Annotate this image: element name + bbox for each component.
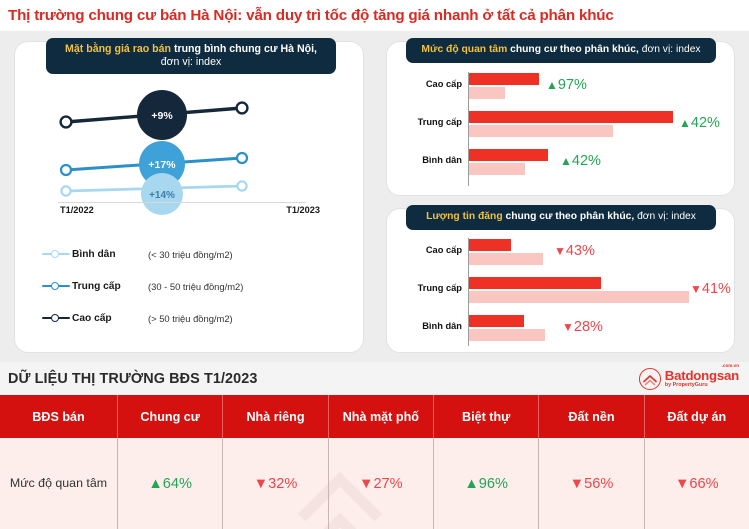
cell-value-biet-thu: ▲96%: [464, 476, 508, 492]
legend-item-binh-dan: Bình dân (< 30 triệu đồng/m2): [42, 238, 342, 270]
cell-number-dat-du-an: 66%: [689, 476, 718, 492]
bar-current-trung-cap-interest: [469, 111, 673, 123]
arrow-down-icon: ▼: [690, 282, 702, 296]
panel-interest-header: Mức độ quan tâm chung cư theo phân khúc,…: [406, 38, 716, 63]
bar-current-trung-cap-listings: [469, 277, 601, 289]
table-cell-biet-thu: ▲96%: [434, 438, 539, 529]
house-logo-icon: [639, 368, 661, 390]
listings-bar-chart: Cao cấp ▼43% Trung cấp ▼41% Bình dân ▼28…: [386, 234, 735, 350]
arrow-down-icon: ▼: [359, 476, 373, 492]
bar-group-cao-cap-interest: Cao cấp ▲97%: [386, 68, 735, 106]
bar-label-trung-cap-listings: Trung cấp: [386, 283, 462, 293]
cell-number-chung-cu: 64%: [163, 476, 192, 492]
arrow-down-icon: ▼: [554, 244, 566, 258]
slope-start-node-trung-cap: [61, 165, 71, 175]
cell-number-nha-mat-pho: 27%: [373, 476, 402, 492]
legend-range-trung-cap: (30 - 50 triệu đồng/m2): [148, 281, 243, 292]
legend-range-binh-dan: (< 30 triệu đồng/m2): [148, 249, 233, 260]
table-cell-nha-rieng: ▼32%: [223, 438, 328, 529]
cell-value-dat-du-an: ▼66%: [675, 476, 719, 492]
table-cell-chung-cu: ▲64%: [118, 438, 223, 529]
table-cell-dat-du-an: ▼66%: [645, 438, 749, 529]
bar-label-cao-cap-interest: Cao cấp: [386, 79, 462, 89]
delta-binh-dan-listings: ▼28%: [562, 319, 603, 335]
delta-value-trung-cap-interest: 42%: [691, 115, 720, 131]
price-header-gold: Mặt bằng giá rao bán: [65, 43, 174, 55]
price-header-unit: đơn vị: index: [161, 56, 222, 68]
footer-title: DỮ LIỆU THỊ TRƯỜNG BĐS T1/2023: [8, 371, 257, 387]
table-header-nha-rieng: Nhà riêng: [223, 395, 328, 438]
footer-bar: DỮ LIỆU THỊ TRƯỜNG BĐS T1/2023 .com.vn B…: [0, 362, 749, 395]
arrow-down-icon: ▼: [675, 476, 689, 492]
interest-bar-chart: Cao cấp ▲97% Trung cấp ▲42% Bình dân ▲42…: [386, 68, 735, 190]
price-header-white: trung bình chung cư Hà Nội,: [174, 43, 317, 55]
bar-group-trung-cap-interest: Trung cấp ▲42%: [386, 106, 735, 144]
logo-text-block: .com.vn Batdongsan by PropertyGuru: [665, 369, 739, 389]
table-header-dat-du-an: Đất dự án: [645, 395, 749, 438]
bar-label-binh-dan-listings: Bình dân: [386, 321, 462, 331]
bar-label-trung-cap-interest: Trung cấp: [386, 117, 462, 127]
delta-value-binh-dan-interest: 42%: [572, 153, 601, 169]
cell-number-dat-nen: 56%: [584, 476, 613, 492]
table-header-nha-mat-pho: Nhà mặt phố: [329, 395, 434, 438]
listings-header-gold: Lượng tin đăng: [426, 211, 505, 222]
table-row: Mức độ quan tâm ▲64% ▼32% ▼27% ▲96%: [0, 438, 749, 529]
slope-end-node-trung-cap: [237, 153, 247, 163]
panel-price-header: Mặt bằng giá rao bán trung bình chung cư…: [46, 38, 336, 74]
delta-value-cao-cap-interest: 97%: [558, 77, 587, 93]
table-header-bds-ban: BĐS bán: [0, 395, 118, 438]
delta-value-binh-dan-listings: 28%: [574, 319, 603, 335]
axis-label-start: T1/2022: [60, 205, 94, 223]
legend-label-cao-cap: Cao cấp: [72, 313, 148, 324]
bar-current-cao-cap-interest: [469, 73, 539, 85]
arrow-up-icon: ▲: [679, 116, 691, 130]
bar-group-cao-cap-listings: Cao cấp ▼43%: [386, 234, 735, 272]
bar-label-binh-dan-interest: Bình dân: [386, 155, 462, 165]
cell-value-nha-mat-pho: ▼27%: [359, 476, 403, 492]
legend-swatch-icon-binh-dan: [42, 248, 70, 260]
table-header-biet-thu: Biệt thự: [434, 395, 539, 438]
slope-axis-labels: T1/2022 T1/2023: [60, 205, 320, 223]
cell-value-nha-rieng: ▼32%: [254, 476, 298, 492]
bar-group-binh-dan-interest: Bình dân ▲42%: [386, 144, 735, 182]
bar-previous-cao-cap-interest: [469, 87, 505, 99]
slope-start-node-binh-dan: [61, 186, 70, 195]
market-data-table: BĐS bán Chung cư Nhà riêng Nhà mặt phố B…: [0, 395, 749, 529]
delta-value-trung-cap-listings: 41%: [702, 281, 731, 297]
table-cell-nha-mat-pho: ▼27%: [329, 438, 434, 529]
delta-binh-dan-interest: ▲42%: [560, 153, 601, 169]
slope-start-node-cao-cap: [61, 117, 72, 128]
table-header-chung-cu: Chung cư: [118, 395, 223, 438]
bar-label-cao-cap-listings: Cao cấp: [386, 245, 462, 255]
cell-number-biet-thu: 96%: [479, 476, 508, 492]
arrow-up-icon: ▲: [148, 476, 162, 492]
bar-current-binh-dan-listings: [469, 315, 524, 327]
slope-axis-line: [58, 202, 306, 203]
arrow-up-icon: ▲: [560, 154, 572, 168]
bar-group-binh-dan-listings: Bình dân ▼28%: [386, 310, 735, 348]
table-header-row: BĐS bán Chung cư Nhà riêng Nhà mặt phố B…: [0, 395, 749, 438]
cell-value-dat-nen: ▼56%: [570, 476, 614, 492]
bar-current-binh-dan-interest: [469, 149, 548, 161]
listings-header-white: chung cư theo phân khúc,: [505, 211, 634, 222]
bar-previous-cao-cap-listings: [469, 253, 543, 265]
legend-item-trung-cap: Trung cấp (30 - 50 triệu đồng/m2): [42, 270, 342, 302]
page-title: Thị trường chung cư bán Hà Nội: vẫn duy …: [8, 7, 614, 24]
arrow-down-icon: ▼: [570, 476, 584, 492]
page-title-bar: Thị trường chung cư bán Hà Nội: vẫn duy …: [0, 0, 749, 31]
infographic-page: Thị trường chung cư bán Hà Nội: vẫn duy …: [0, 0, 749, 529]
arrow-down-icon: ▼: [254, 476, 268, 492]
delta-trung-cap-listings: ▼41%: [690, 281, 731, 297]
cell-value-chung-cu: ▲64%: [148, 476, 192, 492]
slope-end-node-binh-dan: [237, 181, 246, 190]
arrow-up-icon: ▲: [546, 78, 558, 92]
bar-previous-binh-dan-interest: [469, 163, 525, 175]
bar-previous-binh-dan-listings: [469, 329, 545, 341]
interest-header-unit: đơn vị: index: [639, 44, 701, 55]
interest-header-gold: Mức độ quan tâm: [421, 44, 510, 55]
cell-number-nha-rieng: 32%: [268, 476, 297, 492]
arrow-down-icon: ▼: [562, 320, 574, 334]
bar-previous-trung-cap-listings: [469, 291, 689, 303]
legend-swatch-icon-trung-cap: [42, 280, 70, 292]
slope-value-cao-cap: +9%: [151, 110, 173, 122]
legend-item-cao-cap: Cao cấp (> 50 triệu đồng/m2): [42, 302, 342, 334]
delta-cao-cap-listings: ▼43%: [554, 243, 595, 259]
delta-trung-cap-interest: ▲42%: [679, 115, 720, 131]
slope-value-binh-dan: +14%: [149, 190, 175, 201]
interest-header-white: chung cư theo phân khúc,: [510, 44, 639, 55]
batdongsan-logo: .com.vn Batdongsan by PropertyGuru: [639, 368, 739, 390]
bar-previous-trung-cap-interest: [469, 125, 613, 137]
axis-label-end: T1/2023: [286, 205, 320, 223]
table-header-dat-nen: Đất nền: [539, 395, 644, 438]
arrow-up-icon: ▲: [464, 476, 478, 492]
table-cell-row-label: Mức độ quan tâm: [0, 438, 118, 529]
price-legend: Bình dân (< 30 triệu đồng/m2) Trung cấp …: [42, 238, 342, 334]
logo-name: Batdongsan: [665, 369, 739, 382]
legend-label-binh-dan: Bình dân: [72, 249, 148, 260]
legend-label-trung-cap: Trung cấp: [72, 281, 148, 292]
delta-value-cao-cap-listings: 43%: [566, 243, 595, 259]
bar-current-cao-cap-listings: [469, 239, 511, 251]
panel-listings-header: Lượng tin đăng chung cư theo phân khúc, …: [406, 205, 716, 230]
slope-value-trung-cap: +17%: [148, 159, 176, 171]
listings-header-unit: đơn vị: index: [634, 211, 696, 222]
legend-range-cao-cap: (> 50 triệu đồng/m2): [148, 313, 233, 324]
logo-tld: .com.vn: [722, 364, 739, 369]
logo-subtitle: by PropertyGuru: [665, 383, 739, 388]
delta-cao-cap-interest: ▲97%: [546, 77, 587, 93]
legend-swatch-icon-cao-cap: [42, 312, 70, 324]
slope-end-node-cao-cap: [237, 103, 248, 114]
table-cell-dat-nen: ▼56%: [539, 438, 644, 529]
bar-group-trung-cap-listings: Trung cấp ▼41%: [386, 272, 735, 310]
